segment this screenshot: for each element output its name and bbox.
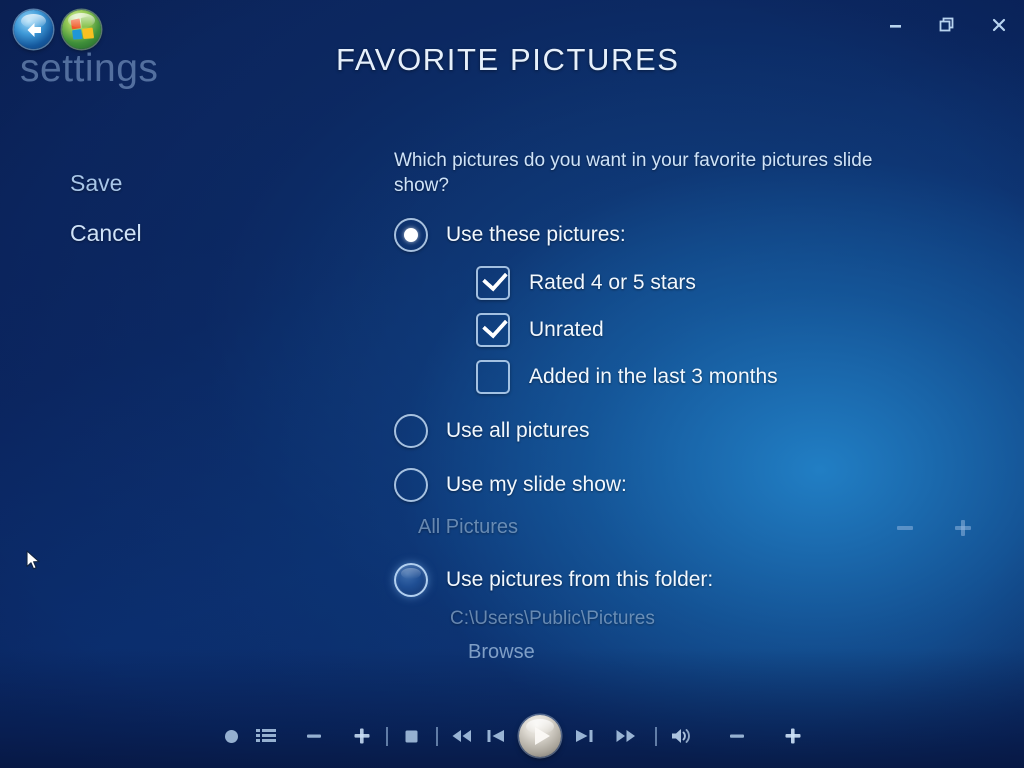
speaker-glyph xyxy=(670,727,692,745)
minus-glyph xyxy=(728,728,746,744)
list-icon[interactable] xyxy=(249,716,283,756)
separator xyxy=(436,727,438,746)
option-use-my-slide-show[interactable]: Use my slide show: xyxy=(394,468,994,502)
radio-use-all-pictures[interactable] xyxy=(394,414,428,448)
slideshow-name-value: All Pictures xyxy=(418,516,518,539)
close-icon[interactable] xyxy=(984,12,1014,38)
option-unrated[interactable]: Unrated xyxy=(476,313,994,347)
check-glyph xyxy=(482,312,508,338)
play-button[interactable] xyxy=(519,715,561,757)
channel-up-plus-icon[interactable] xyxy=(345,716,379,756)
fast-forward-icon[interactable] xyxy=(609,716,643,756)
stop-glyph xyxy=(404,729,419,744)
skip-forward-icon[interactable] xyxy=(567,716,601,756)
option-use-these-pictures[interactable]: Use these pictures: xyxy=(394,218,994,252)
transport-controls xyxy=(0,712,1024,760)
nav-orbs xyxy=(14,10,101,49)
checkbox-unrated[interactable] xyxy=(476,313,510,347)
option-label: Unrated xyxy=(529,318,604,342)
skip-back-icon[interactable] xyxy=(479,716,513,756)
checkbox-rated-4-or-5-stars[interactable] xyxy=(476,266,510,300)
option-use-all-pictures[interactable]: Use all pictures xyxy=(394,414,994,448)
speaker-icon[interactable] xyxy=(664,716,698,756)
slideshow-selector-row: All Pictures xyxy=(418,516,973,539)
rewind-glyph xyxy=(451,728,473,744)
option-label: Added in the last 3 months xyxy=(529,365,778,389)
option-use-pictures-from-this-folder[interactable]: Use pictures from this folder: xyxy=(394,563,994,597)
volume-up-plus-icon[interactable] xyxy=(776,716,810,756)
option-label: Rated 4 or 5 stars xyxy=(529,271,696,295)
minus-icon[interactable] xyxy=(895,518,915,538)
record-icon[interactable] xyxy=(215,716,249,756)
restore-glyph xyxy=(939,17,955,33)
plus-glyph xyxy=(784,727,802,745)
folder-path-value: C:\Users\Public\Pictures xyxy=(450,608,994,630)
left-menu: Save Cancel xyxy=(70,170,142,270)
browse-button[interactable]: Browse xyxy=(468,641,994,664)
channel-down-minus-icon[interactable] xyxy=(297,716,331,756)
main-content: Which pictures do you want in your favor… xyxy=(394,148,994,664)
rewind-icon[interactable] xyxy=(445,716,479,756)
window-controls xyxy=(880,12,1014,38)
restore-icon[interactable] xyxy=(932,12,962,38)
option-label: Use these pictures: xyxy=(446,223,626,247)
separator xyxy=(386,727,388,746)
back-arrow-glyph xyxy=(24,21,44,39)
radio-use-my-slide-show[interactable] xyxy=(394,468,428,502)
minus-glyph xyxy=(305,728,323,744)
skip-forward-glyph xyxy=(574,728,594,744)
radio-use-these-pictures[interactable] xyxy=(394,218,428,252)
skip-back-glyph xyxy=(486,728,506,744)
windows-flag-glyph xyxy=(71,16,94,40)
option-label: Use all pictures xyxy=(446,419,590,443)
question-label: Which pictures do you want in your favor… xyxy=(394,148,886,198)
list-glyph xyxy=(256,728,276,745)
volume-down-minus-icon[interactable] xyxy=(720,716,754,756)
page-title: FAVORITE PICTURES xyxy=(336,42,680,78)
option-label: Use my slide show: xyxy=(446,473,627,497)
save-button[interactable]: Save xyxy=(70,170,142,197)
fast-forward-glyph xyxy=(615,728,637,744)
mouse-pointer xyxy=(26,550,42,577)
record-glyph xyxy=(223,728,240,745)
check-glyph xyxy=(482,265,508,291)
windows-logo-icon[interactable] xyxy=(62,10,101,49)
option-rated-4-or-5-stars[interactable]: Rated 4 or 5 stars xyxy=(476,266,994,300)
separator xyxy=(655,727,657,746)
option-added-in-last-3-months[interactable]: Added in the last 3 months xyxy=(476,360,994,394)
slideshow-stepper xyxy=(895,518,973,538)
cancel-button[interactable]: Cancel xyxy=(70,220,142,247)
plus-glyph xyxy=(353,727,371,745)
radio-use-pictures-from-this-folder[interactable] xyxy=(394,563,428,597)
option-label: Use pictures from this folder: xyxy=(446,568,713,592)
back-arrow-icon[interactable] xyxy=(14,10,53,49)
stop-icon[interactable] xyxy=(395,716,429,756)
plus-icon[interactable] xyxy=(953,518,973,538)
minimize-glyph xyxy=(888,19,903,31)
play-icon xyxy=(535,727,550,745)
close-glyph xyxy=(991,17,1007,33)
app-name-label: settings xyxy=(20,47,158,91)
minimize-icon[interactable] xyxy=(880,12,910,38)
checkbox-added-in-last-3-months[interactable] xyxy=(476,360,510,394)
cursor-glyph xyxy=(26,550,42,572)
